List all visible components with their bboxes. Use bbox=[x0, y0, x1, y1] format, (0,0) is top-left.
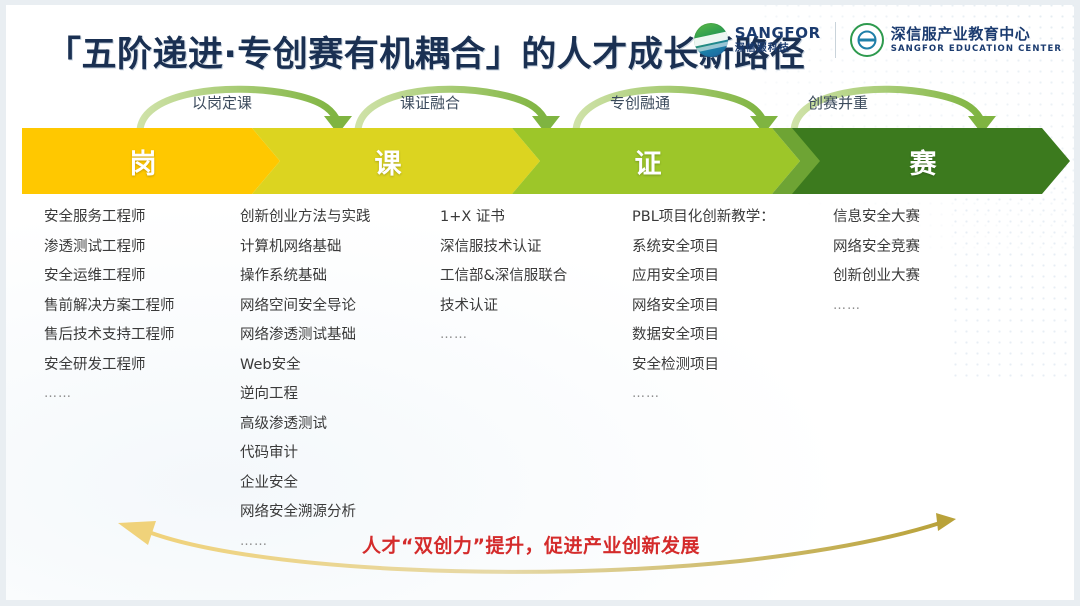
stage-chevron-1[interactable]: 岗 bbox=[22, 128, 280, 194]
list-item: 售前解决方案工程师 bbox=[44, 299, 234, 314]
list-item: 网络安全项目 bbox=[632, 299, 832, 314]
list-item: 网络渗透测试基础 bbox=[240, 328, 440, 343]
list-item: 应用安全项目 bbox=[632, 269, 832, 284]
slide-edge-left bbox=[0, 0, 6, 606]
education-logo-en: SANGFOR EDUCATION CENTER bbox=[891, 45, 1062, 54]
slide-edge-right bbox=[1074, 0, 1080, 606]
list-item: 逆向工程 bbox=[240, 387, 440, 402]
stage-content-columns: 安全服务工程师 渗透测试工程师 安全运维工程师 售前解决方案工程师 售后技术支持… bbox=[0, 210, 1080, 550]
education-logo-cn: 深信服产业教育中心 bbox=[891, 27, 1062, 42]
list-item: 安全运维工程师 bbox=[44, 269, 234, 284]
list-item: Web安全 bbox=[240, 358, 440, 373]
page-title: 「五阶递进·专创赛有机耦合」的人才成长新路径 bbox=[46, 26, 805, 77]
globe-icon bbox=[694, 23, 728, 57]
slide-canvas: 「五阶递进·专创赛有机耦合」的人才成长新路径 SANGFOR 深信服科技 深信服… bbox=[0, 0, 1080, 606]
column-sai: 信息安全大赛 网络安全竞赛 创新创业大赛 …… bbox=[833, 210, 1023, 327]
list-item: 高级渗透测试 bbox=[240, 417, 440, 432]
slide-edge-bottom bbox=[0, 600, 1080, 606]
slide-edge-top bbox=[0, 0, 1080, 5]
list-item: 创新创业方法与实践 bbox=[240, 210, 440, 225]
arc-label-4: 创赛并重 bbox=[808, 92, 868, 113]
stage-chevron-3[interactable]: 证 bbox=[512, 128, 800, 194]
list-item: 企业安全 bbox=[240, 476, 440, 491]
list-item: 代码审计 bbox=[240, 446, 440, 461]
list-item: 信息安全大赛 bbox=[833, 210, 1023, 225]
list-item: 计算机网络基础 bbox=[240, 240, 440, 255]
arc-label-1: 以岗定课 bbox=[192, 92, 252, 113]
education-seal-icon bbox=[850, 23, 884, 57]
stage-label-2: 课 bbox=[375, 142, 418, 181]
list-item: 1+X 证书 bbox=[440, 210, 625, 225]
stage-chevron-5-shape[interactable]: 赛 bbox=[792, 128, 1070, 194]
list-item: 系统安全项目 bbox=[632, 240, 832, 255]
logo-divider bbox=[835, 22, 836, 58]
list-item-ellipsis: …… bbox=[632, 387, 832, 400]
list-item: PBL项目化创新教学： bbox=[632, 210, 832, 225]
stage-label-3: 证 bbox=[635, 142, 678, 181]
sangfor-logo-cn: 深信服科技 bbox=[735, 44, 821, 54]
list-item-ellipsis: …… bbox=[833, 299, 1023, 312]
footer-highlight-text: 人才“双创力”提升，促进产业创新发展 bbox=[362, 531, 700, 558]
list-item: 操作系统基础 bbox=[240, 269, 440, 284]
column-chuang: PBL项目化创新教学： 系统安全项目 应用安全项目 网络安全项目 数据安全项目 … bbox=[632, 210, 832, 415]
column-zheng: 1+X 证书 深信服技术认证 工信部&深信服联合 技术认证 …… bbox=[440, 210, 625, 356]
arc-label-3: 专创融通 bbox=[610, 92, 670, 113]
list-item: 数据安全项目 bbox=[632, 328, 832, 343]
list-item-ellipsis: …… bbox=[44, 387, 234, 400]
sangfor-logo: SANGFOR 深信服科技 bbox=[694, 23, 821, 57]
list-item: 渗透测试工程师 bbox=[44, 240, 234, 255]
list-item: 工信部&深信服联合 bbox=[440, 269, 625, 284]
list-item: 网络安全竞赛 bbox=[833, 240, 1023, 255]
list-item: 安全研发工程师 bbox=[44, 358, 234, 373]
logo-group: SANGFOR 深信服科技 深信服产业教育中心 SANGFOR EDUCATIO… bbox=[694, 22, 1062, 58]
stage-chevron-2[interactable]: 课 bbox=[252, 128, 540, 194]
list-item: 安全检测项目 bbox=[632, 358, 832, 373]
stage-label-1: 岗 bbox=[130, 142, 173, 181]
list-item: 创新创业大赛 bbox=[833, 269, 1023, 284]
list-item: 售后技术支持工程师 bbox=[44, 328, 234, 343]
list-item: 安全服务工程师 bbox=[44, 210, 234, 225]
stage-label-5: 赛 bbox=[910, 142, 953, 181]
education-center-logo: 深信服产业教育中心 SANGFOR EDUCATION CENTER bbox=[850, 23, 1062, 57]
arc-label-2: 课证融合 bbox=[400, 92, 460, 113]
list-item-ellipsis: …… bbox=[440, 328, 625, 341]
list-item: 深信服技术认证 bbox=[440, 240, 625, 255]
list-item: 技术认证 bbox=[440, 299, 625, 314]
list-item: 网络空间安全导论 bbox=[240, 299, 440, 314]
column-gang: 安全服务工程师 渗透测试工程师 安全运维工程师 售前解决方案工程师 售后技术支持… bbox=[44, 210, 234, 415]
sangfor-logo-en: SANGFOR bbox=[735, 26, 821, 41]
